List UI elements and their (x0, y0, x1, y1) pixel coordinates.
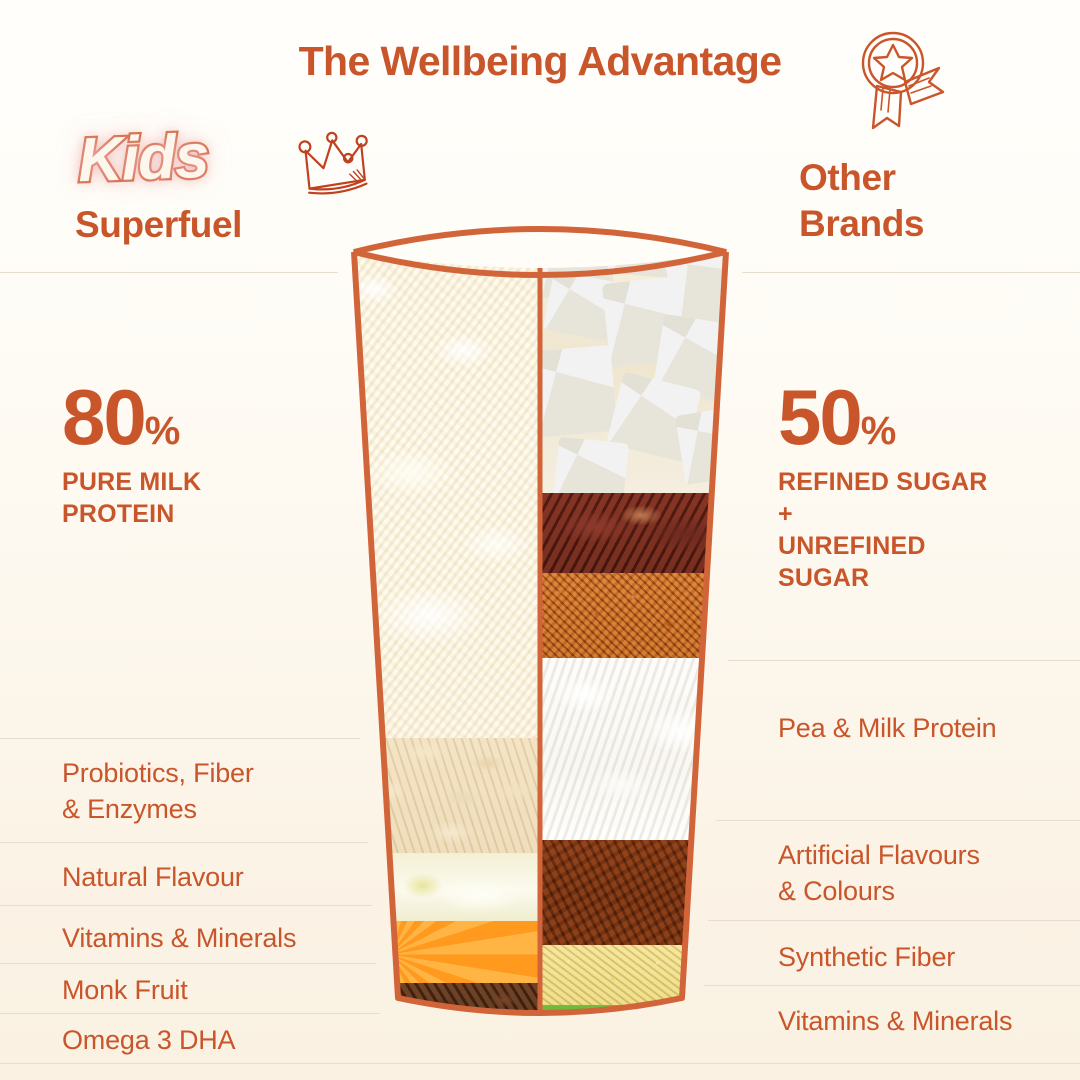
divider-line (704, 985, 1080, 986)
list-item: Synthetic Fiber (778, 940, 1078, 976)
other-brands-label: Other Brands (799, 155, 924, 248)
stat-left-caption: PURE MILK PROTEIN (62, 466, 201, 530)
glass-layer-cocoa-powder (540, 840, 742, 945)
ingredient-label: Monk Fruit (62, 975, 188, 1005)
stat-left: 80% PURE MILK PROTEIN (62, 380, 201, 530)
divider-line (0, 1063, 1080, 1064)
ingredient-label: Artificial Flavours & Colours (778, 840, 980, 906)
list-item: Vitamins & Minerals (778, 1004, 1080, 1040)
list-item: Monk Fruit (62, 973, 362, 1009)
glass-layer-brown-sugar (540, 573, 742, 658)
ingredient-label: Vitamins & Minerals (62, 923, 296, 953)
award-ribbon-icon (843, 24, 955, 136)
other-brands-line1: Other (799, 155, 924, 201)
comparison-glass (338, 228, 742, 1048)
divider-line (0, 272, 338, 273)
ingredient-label: Vitamins & Minerals (778, 1006, 1012, 1036)
list-item: Probiotics, Fiber & Enzymes (62, 756, 362, 828)
divider-line (742, 272, 1080, 273)
divider-line (0, 842, 368, 843)
divider-line (0, 738, 360, 739)
glass-layer-orange-slice (338, 921, 540, 983)
ingredient-label: Pea & Milk Protein (778, 713, 997, 743)
glass-layer-omega-oil (338, 1028, 540, 1048)
ingredient-label: Natural Flavour (62, 862, 244, 892)
list-item: Artificial Flavours & Colours (778, 838, 1080, 910)
list-item: Pea & Milk Protein (778, 711, 1080, 747)
list-item: Natural Flavour (62, 860, 362, 896)
ingredient-label: Omega 3 DHA (62, 1025, 235, 1055)
ingredient-label: Probiotics, Fiber & Enzymes (62, 758, 254, 824)
percent-sign: % (145, 409, 180, 453)
stat-right-number: 50% (778, 380, 988, 454)
divider-line (716, 820, 1080, 821)
divider-line (728, 660, 1080, 661)
divider-line (0, 905, 372, 906)
list-item: Vitamins & Minerals (62, 921, 382, 957)
glass-layer-rolled-oats (338, 738, 540, 853)
kids-wordmark: Kids (77, 126, 209, 193)
percent-sign: % (861, 409, 896, 453)
stat-right: 50% REFINED SUGAR + UNREFINED SUGAR (778, 380, 988, 594)
glass-layer-white-protein (540, 658, 742, 840)
superfuel-label: Superfuel (75, 204, 242, 246)
other-brands-line2: Brands (799, 201, 924, 247)
glass-layer-corn-fiber (540, 945, 742, 1005)
glass-layer-vanilla-flower (338, 853, 540, 921)
infographic-canvas: The Wellbeing Advantage Kids Superfuel (0, 0, 1080, 1080)
divider-line (0, 1013, 380, 1014)
divider-line (708, 920, 1080, 921)
ingredient-label: Synthetic Fiber (778, 942, 955, 972)
stat-left-number: 80% (62, 380, 201, 454)
crown-icon (292, 126, 382, 202)
list-item: Omega 3 DHA (62, 1023, 362, 1059)
stat-right-caption: REFINED SUGAR + UNREFINED SUGAR (778, 466, 988, 594)
kids-logo: Kids (78, 128, 293, 200)
divider-line (0, 963, 376, 964)
